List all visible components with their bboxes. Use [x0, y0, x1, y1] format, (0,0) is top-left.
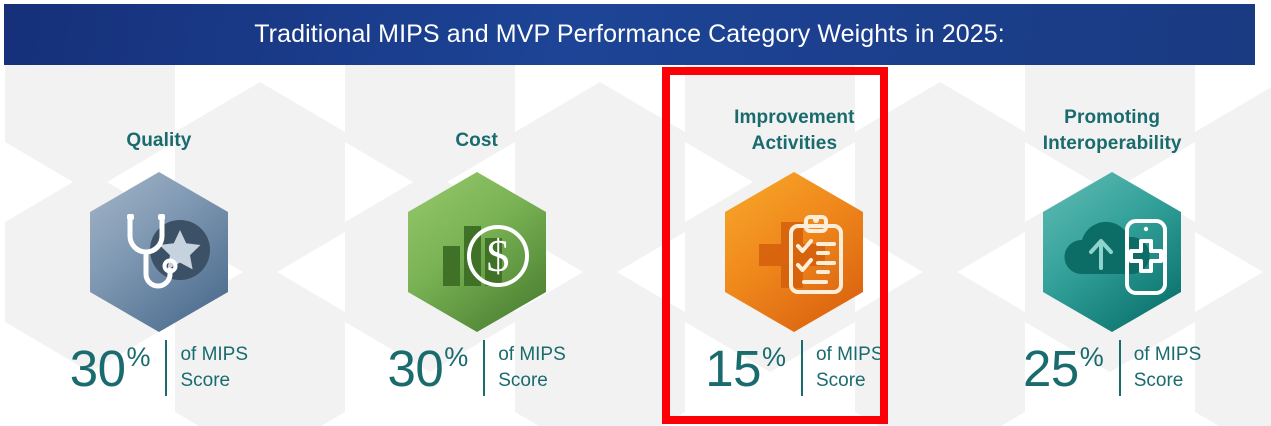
- category-label-line1: Cost: [455, 130, 498, 151]
- percent-row-promoting-interoperability: 25 % of MIPS Score: [953, 340, 1271, 396]
- slide-root: Traditional MIPS and MVP Performance Cat…: [0, 0, 1271, 426]
- percent-caption: of MIPS Score: [816, 342, 884, 393]
- percent-divider: [1119, 340, 1121, 396]
- percent-caption: of MIPS Score: [1134, 342, 1202, 393]
- caption-line-2: Score: [180, 368, 248, 394]
- hexagon-badge-quality: [86, 170, 232, 334]
- caption-line-1: of MIPS: [180, 342, 248, 368]
- percent-sign: %: [1080, 344, 1104, 371]
- category-cards: Quality: [0, 66, 1271, 426]
- percent-row-improvement-activities: 15 % of MIPS Score: [636, 340, 954, 396]
- percent-divider: [801, 340, 803, 396]
- category-label-line1: Quality: [126, 130, 191, 151]
- hexagon-badge-cost: $: [404, 170, 550, 334]
- percent-caption: of MIPS Score: [180, 342, 248, 393]
- percent-sign: %: [762, 344, 786, 371]
- header-band: Traditional MIPS and MVP Performance Cat…: [4, 4, 1255, 65]
- percent-sign: %: [444, 344, 468, 371]
- percent-value: 15: [705, 343, 761, 394]
- caption-line-2: Score: [816, 368, 884, 394]
- category-label-line2: Activities: [636, 131, 954, 157]
- category-label-promoting-interoperability: Promoting Interoperability: [953, 105, 1271, 156]
- category-card-promoting-interoperability[interactable]: Promoting Interoperability: [953, 66, 1271, 426]
- category-label-improvement-activities: Improvement Activities: [636, 105, 954, 156]
- category-label-quality: Quality: [0, 128, 318, 154]
- percent-row-cost: 30 % of MIPS Score: [318, 340, 636, 396]
- svg-text:$: $: [486, 230, 509, 281]
- percent-value: 25: [1023, 343, 1079, 394]
- category-label-line1: Promoting: [953, 105, 1271, 131]
- percent-row-quality: 30 % of MIPS Score: [0, 340, 318, 396]
- hexagon-badge-promoting-interoperability: [1039, 170, 1185, 334]
- category-card-improvement-activities[interactable]: Improvement Activities: [636, 66, 954, 426]
- category-label-line2: Interoperability: [953, 131, 1271, 157]
- caption-line-1: of MIPS: [498, 342, 566, 368]
- percent-divider: [483, 340, 485, 396]
- category-card-cost[interactable]: Cost: [318, 66, 636, 426]
- percent-divider: [165, 340, 167, 396]
- hexagon-badge-improvement-activities: [721, 170, 867, 334]
- caption-line-2: Score: [1134, 368, 1202, 394]
- caption-line-2: Score: [498, 368, 566, 394]
- percent-value: 30: [387, 343, 443, 394]
- category-card-quality[interactable]: Quality: [0, 66, 318, 426]
- category-label-cost: Cost: [318, 128, 636, 154]
- percent-caption: of MIPS Score: [498, 342, 566, 393]
- page-title: Traditional MIPS and MVP Performance Cat…: [4, 4, 1255, 65]
- caption-line-1: of MIPS: [1134, 342, 1202, 368]
- category-label-line1: Improvement: [636, 105, 954, 131]
- percent-value: 30: [70, 343, 126, 394]
- percent-sign: %: [126, 344, 150, 371]
- caption-line-1: of MIPS: [816, 342, 884, 368]
